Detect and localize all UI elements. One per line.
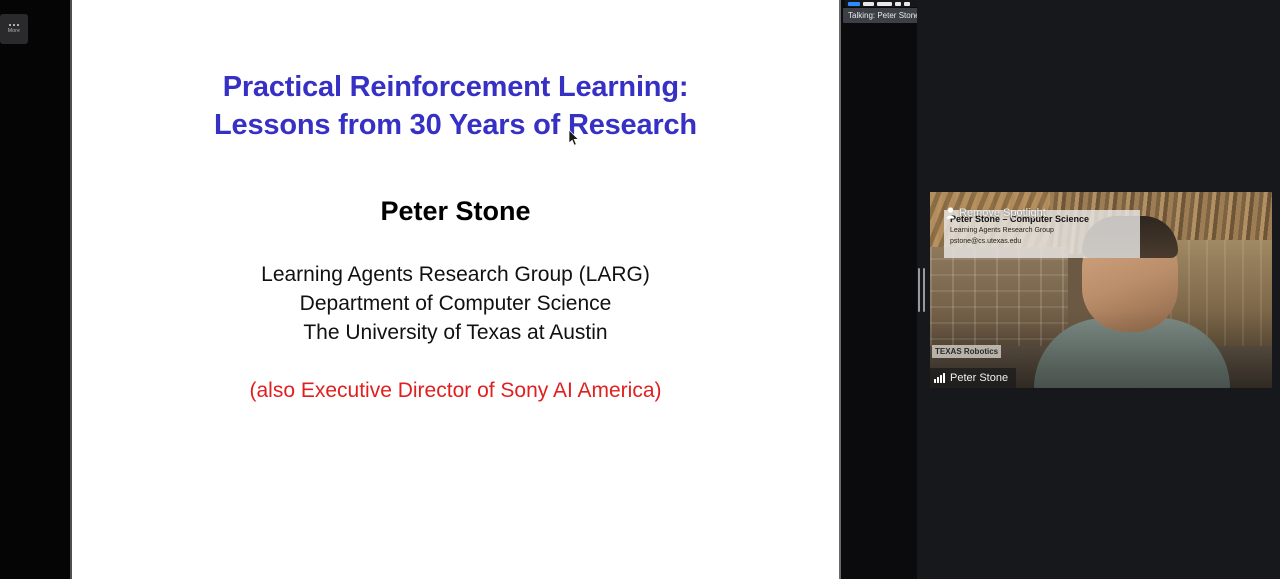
slide-affiliation-line1: Learning Agents Research Group (LARG) [72,260,839,289]
remove-spotlight-tooltip[interactable]: Remove Spotlight [946,206,1046,220]
share-gutter [841,0,917,579]
more-button-label: More [8,28,20,35]
presentation-slide: Practical Reinforcement Learning: Lesson… [72,0,839,579]
slide-left-border [70,0,72,579]
more-options-button[interactable] [904,2,910,6]
slide-note: (also Executive Director of Sony AI Amer… [72,347,839,405]
name-card-email: pstone@cs.utexas.edu [950,236,1134,247]
video-button[interactable] [863,2,874,6]
participant-name-label: Peter Stone [950,372,1008,384]
panel-resize-grip[interactable] [918,268,925,312]
texas-robotics-sign: TEXAS Robotics [932,345,1001,358]
slide-affiliation-line3: The University of Texas at Austin [72,318,839,347]
shared-screen-region[interactable]: Practical Reinforcement Learning: Lesson… [72,0,839,579]
slide-affiliation: Learning Agents Research Group (LARG) De… [72,227,839,347]
spotlight-person-icon [946,207,955,219]
mute-button[interactable] [848,2,860,6]
signal-bars-icon [934,373,945,383]
name-card-group: Learning Agents Research Group [950,225,1134,236]
zoom-meeting-window: More Practical Reinforcement Learning: L… [0,0,1280,579]
slide-title: Practical Reinforcement Learning: Lesson… [72,0,839,144]
slide-right-border [839,0,841,579]
more-button[interactable]: More [0,14,28,44]
slide-title-line1: Practical Reinforcement Learning: [223,71,689,103]
participant-name-chip: Peter Stone [930,368,1016,388]
ellipsis-icon [9,24,19,26]
talking-status-banner: Talking: Peter Stone [843,8,925,23]
remove-spotlight-label: Remove Spotlight [959,206,1046,220]
video-tile-peter-stone[interactable]: TEXAS Robotics Peter Stone – Computer Sc… [930,192,1272,388]
share-screen-button[interactable] [877,2,892,6]
slide-affiliation-line2: Department of Computer Science [72,289,839,318]
slide-title-line2: Lessons from 30 Years of Research [72,106,839,144]
slide-author: Peter Stone [72,144,839,227]
participants-button[interactable] [895,2,901,6]
desktop-left-area [0,0,72,579]
